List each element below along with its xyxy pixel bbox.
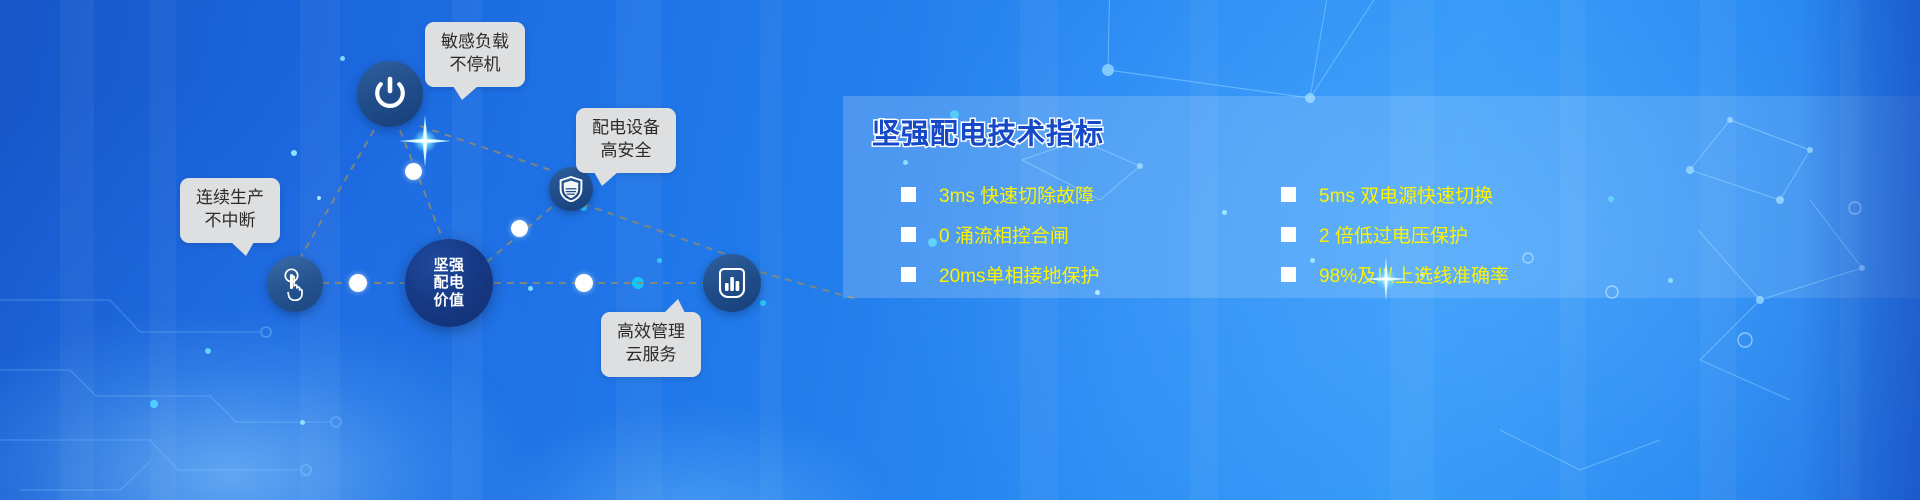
right-edge-gradient <box>1800 0 1920 500</box>
center-line-2: 配电 <box>433 274 464 291</box>
spec-item: 98%及以上选线准确率 <box>1281 254 1661 294</box>
callout-sensitive-load: 敏感负载 不停机 <box>425 22 525 87</box>
spec-item-label: 0 涌流相控合闸 <box>939 221 1069 248</box>
center-value-node: 坚强 配电 价值 <box>405 239 493 327</box>
link-node-dot <box>405 163 422 180</box>
shield-icon <box>559 176 583 202</box>
square-bullet-icon <box>1281 187 1296 202</box>
shield-node[interactable] <box>549 167 593 211</box>
spec-item-label: 5ms 双电源快速切换 <box>1319 181 1493 208</box>
callout-line-1: 敏感负载 <box>441 31 509 54</box>
callout-line-2: 不中断 <box>196 210 264 233</box>
spec-item: 5ms 双电源快速切换 <box>1281 174 1661 214</box>
spec-item: 20ms单相接地保护 <box>901 254 1281 294</box>
callout-tail <box>664 299 685 313</box>
link-node-dot <box>349 274 367 292</box>
center-line-1: 坚强 <box>433 257 464 274</box>
callout-line-2: 云服务 <box>617 344 685 367</box>
square-bullet-icon <box>901 267 916 282</box>
callout-tail <box>453 86 478 100</box>
link-node-dot <box>575 274 593 292</box>
link-node-dot <box>511 220 528 237</box>
spec-item-label: 20ms单相接地保护 <box>939 261 1099 288</box>
chart-node[interactable] <box>703 254 761 312</box>
banner-stage: 坚强 配电 价值 敏感负载 不停机 配电设备 高安全 连续生产 不中断 高效管理… <box>0 0 1920 500</box>
spec-panel: 坚强配电技术指标 坚强配电技术指标 3ms 快速切除故障 5ms 双电源快速切换… <box>843 96 1920 298</box>
square-bullet-icon <box>901 227 916 242</box>
callout-line-1: 高效管理 <box>617 321 685 344</box>
center-line-3: 价值 <box>433 292 464 309</box>
spec-item-label: 98%及以上选线准确率 <box>1319 261 1509 288</box>
callout-tail <box>594 172 618 186</box>
touch-node[interactable] <box>267 256 323 312</box>
power-icon <box>372 76 408 112</box>
callout-distribution-safety: 配电设备 高安全 <box>576 108 676 173</box>
square-bullet-icon <box>901 187 916 202</box>
spec-item-label: 3ms 快速切除故障 <box>939 181 1094 208</box>
callout-line-2: 高安全 <box>592 140 660 163</box>
spec-item-label: 2 倍低过电压保护 <box>1319 221 1468 248</box>
sparkle-icon <box>1363 256 1409 302</box>
value-network-diagram: 坚强 配电 价值 敏感负载 不停机 配电设备 高安全 连续生产 不中断 高效管理… <box>0 0 860 500</box>
callout-line-1: 配电设备 <box>592 117 660 140</box>
callout-tail <box>231 242 254 256</box>
square-bullet-icon <box>1281 227 1296 242</box>
spec-item: 3ms 快速切除故障 <box>901 174 1281 214</box>
callout-efficient-cloud: 高效管理 云服务 <box>601 312 701 377</box>
spec-item: 0 涌流相控合闸 <box>901 214 1281 254</box>
callout-line-1: 连续生产 <box>196 187 264 210</box>
callout-line-2: 不停机 <box>441 54 509 77</box>
square-bullet-icon <box>1281 267 1296 282</box>
spec-item: 2 倍低过电压保护 <box>1281 214 1661 254</box>
hand-touch-icon <box>279 267 311 301</box>
callout-continuous-production: 连续生产 不中断 <box>180 178 280 243</box>
spec-panel-title: 坚强配电技术指标 <box>872 112 1104 152</box>
power-node[interactable] <box>357 61 423 127</box>
bar-chart-icon <box>716 267 748 299</box>
